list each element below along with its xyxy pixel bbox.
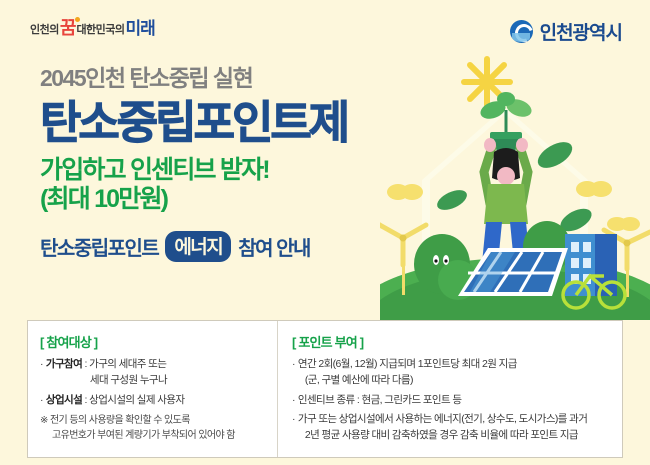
page-title: 탄소중립포인트제 [40,99,460,148]
list-item: · 연간 2회(6월, 12월) 지급되며 1포인트당 최대 2원 지급 (군,… [292,357,612,389]
points-item-body: 가구 또는 상업시설에서 사용하는 에너지(전기, 상수도, 도시가스)를 과거… [298,412,587,444]
eligibility-item-body: 상업시설 : 상업시설의 실제 사용자 [46,393,184,409]
eligibility-item-label: 가구참여 [46,358,82,370]
bullet-icon: · [40,357,43,389]
bullet-icon: · [40,393,43,409]
eligibility-column: [ 참여대상 ] · 가구참여 : 가구의 세대주 또는 세대 구성원 누구나 … [28,321,278,457]
points-column: [ 포인트 부여 ] · 연간 2회(6월, 12월) 지급되며 1포인트당 최… [278,321,622,457]
eligibility-note-line2: 고유번호가 부여된 계량기가 부착되어 있어야 함 [40,428,267,443]
energy-category-chip: 에너지 [165,231,231,262]
eligibility-note-line1: ※ 전기 등의 사용량을 확인할 수 있도록 [40,415,190,426]
city-name-label: 인천광역시 [540,18,622,45]
eligibility-item-label: 상업시설 [46,394,82,406]
bullet-icon: · [292,412,295,444]
eligibility-note: ※ 전기 등의 사용량을 확인할 수 있도록 고유번호가 부여된 계량기가 부착… [40,413,267,443]
separator: : [84,394,86,406]
slogan-part2: 대한민국의 [76,21,124,37]
slogan-future-word: 미래 [126,20,155,37]
incentive-subtitle-line2: (최대 10만원) [40,185,460,215]
tagline-suffix: 참여 안내 [238,232,310,261]
list-item: · 상업시설 : 상업시설의 실제 사용자 [40,393,267,409]
poster-header: 인천의 꿈 대한민국의 미래 인천광역시 [0,0,650,58]
points-item-line2: (군, 구별 예산에 따라 다름) [298,373,517,389]
eligibility-item-body: 가구참여 : 가구의 세대주 또는 세대 구성원 누구나 [46,357,167,389]
eligibility-item-text-2: 세대 구성원 누구나 [46,373,167,389]
bullet-icon: · [292,357,295,389]
slogan-part1: 인천의 [30,21,59,37]
tagline-prefix: 탄소중립포인트 [40,232,158,261]
points-item-body: 인센티브 종류 : 현금, 그린카드 포인트 등 [298,393,462,409]
points-item-line1: 인센티브 종류 : 현금, 그린카드 포인트 등 [298,394,462,406]
slogan-dream-word: 꿈 [60,19,76,37]
eligibility-item-text: 가구의 세대주 또는 [89,358,166,370]
kicker-text: 2045인천 탄소중립 실현 [40,66,460,91]
incheon-ci-emblem-icon [510,20,533,43]
headline-block: 2045인천 탄소중립 실현 탄소중립포인트제 가입하고 인센티브 받자! (최… [40,66,460,262]
list-item: · 인센티브 종류 : 현금, 그린카드 포인트 등 [292,393,612,409]
bullet-icon: · [292,393,295,409]
list-item: · 가구 또는 상업시설에서 사용하는 에너지(전기, 상수도, 도시가스)를 … [292,412,612,444]
separator: : [84,358,86,370]
points-item-line1: 연간 2회(6월, 12월) 지급되며 1포인트당 최대 2원 지급 [298,358,517,370]
building-icon [565,234,617,296]
points-item-line2: 2년 평균 사용량 대비 감축하였을 경우 감축 비율에 따라 포인트 지급 [298,428,587,444]
incentive-subtitle: 가입하고 인센티브 받자! (최대 10만원) [40,156,460,215]
info-panel: [ 참여대상 ] · 가구참여 : 가구의 세대주 또는 세대 구성원 누구나 … [27,320,623,458]
eligibility-heading: [ 참여대상 ] [40,332,267,351]
poster-canvas: 인천의 꿈 대한민국의 미래 인천광역시 [0,0,650,465]
incheon-city-logo: 인천광역시 [510,18,622,45]
points-item-body: 연간 2회(6월, 12월) 지급되며 1포인트당 최대 2원 지급 (군, 구… [298,357,517,389]
incheon-slogan-logo: 인천의 꿈 대한민국의 미래 [30,19,155,37]
eligibility-item-text: 상업시설의 실제 사용자 [89,394,184,406]
points-item-line1: 가구 또는 상업시설에서 사용하는 에너지(전기, 상수도, 도시가스)를 과거 [298,413,587,425]
tagline-row: 탄소중립포인트 에너지 참여 안내 [40,231,460,262]
incentive-subtitle-line1: 가입하고 인센티브 받자! [40,156,460,186]
list-item: · 가구참여 : 가구의 세대주 또는 세대 구성원 누구나 [40,357,267,389]
points-heading: [ 포인트 부여 ] [292,332,612,351]
